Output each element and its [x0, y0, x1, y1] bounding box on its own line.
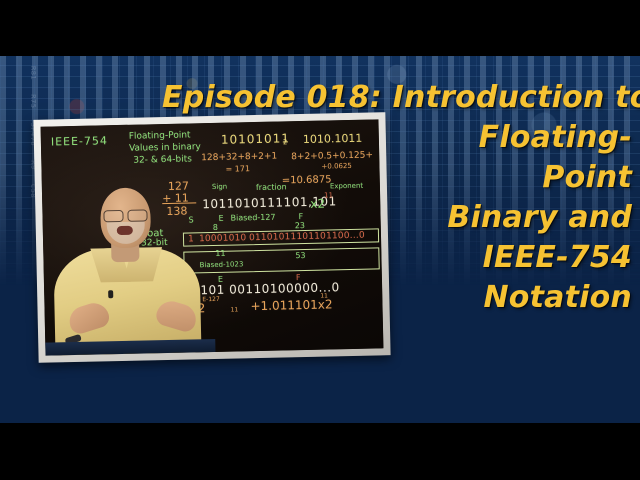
glasses-lens-left [103, 210, 123, 222]
title-line-1: Episode 018: Introduction to [162, 78, 632, 118]
title-line-3: Point [162, 158, 632, 198]
title-line-6: Notation [162, 278, 632, 318]
thumbnail-title: Episode 018: Introduction to Floating- P… [162, 78, 632, 318]
presenter-mouth [117, 226, 133, 235]
title-line-4: Binary and [162, 198, 632, 238]
video-thumbnail: R81 R75 SP476 R9 C58 IEEE-754 Floating-P… [0, 0, 640, 480]
presenter-glasses [101, 209, 149, 220]
glasses-lens-right [127, 209, 147, 221]
letterbox-bar-bottom [0, 423, 640, 480]
thumbnail-background: R81 R75 SP476 R9 C58 IEEE-754 Floating-P… [0, 56, 640, 423]
title-line-2: Floating- [162, 118, 632, 158]
presenter-desk [45, 339, 215, 356]
letterbox-bar-top [0, 0, 640, 56]
title-line-5: IEEE-754 [162, 238, 632, 278]
presenter-lapel-mic [108, 290, 113, 298]
